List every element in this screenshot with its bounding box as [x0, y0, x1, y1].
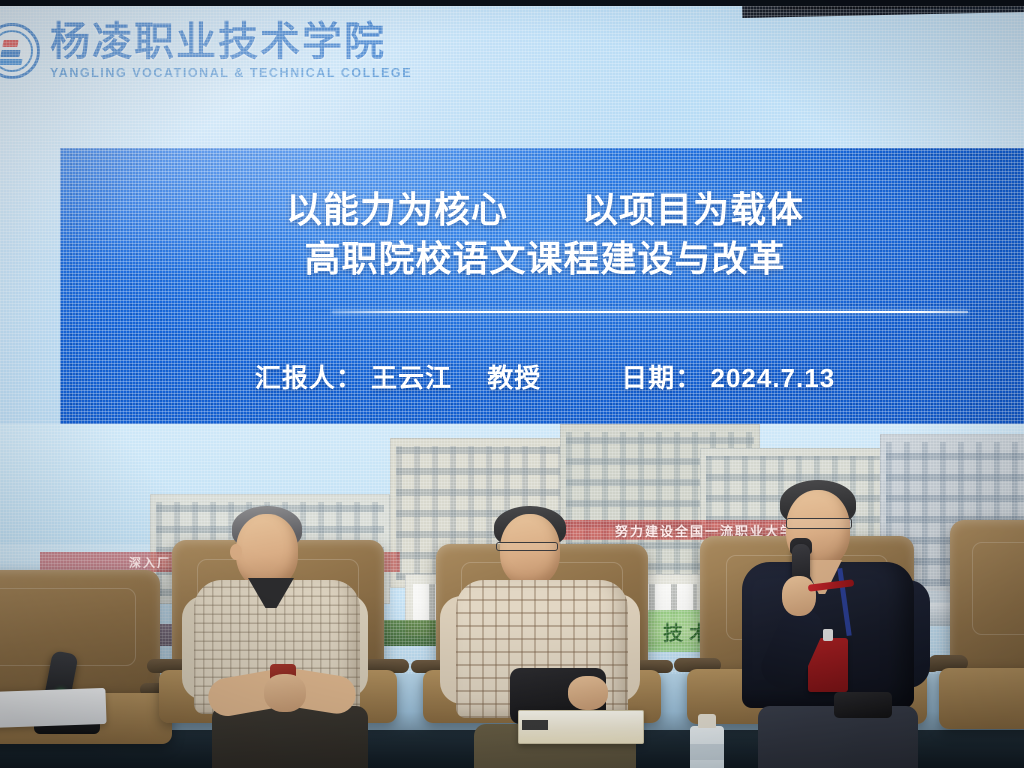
person-left-hands — [264, 674, 306, 712]
slide-title-panel: 以能力为核心 以项目为载体 高职院校语文课程建设与改革 汇报人： 王云江 教授 … — [60, 148, 1024, 430]
slide-meta-row: 汇报人： 王云江 教授 日期： 2024.7.13 — [60, 358, 1024, 395]
person-left-head — [236, 514, 298, 588]
person-right-glasses-icon — [786, 518, 852, 529]
person-left-legs — [212, 706, 368, 768]
slide-title-line-1: 以能力为核心 以项目为载体 — [286, 184, 804, 235]
person-middle-hand — [568, 676, 608, 710]
title-divider — [332, 311, 968, 313]
water-bottle — [690, 726, 724, 768]
stage-seating-area: 努力建设全国一流职业大学 深入厂 大力推进集团化办学 技术学院 — [0, 424, 1024, 768]
college-name-cn: 杨凌职业技术学院 — [50, 22, 412, 62]
date-text: 日期： 2024.7.13 — [621, 358, 835, 395]
college-logo: 杨凌职业技术学院 YANGLING VOCATIONAL & TECHNICAL… — [0, 22, 412, 80]
person-right-hand — [782, 576, 816, 616]
person-middle — [452, 472, 652, 768]
person-left — [186, 468, 386, 768]
person-middle-glasses-icon — [496, 542, 558, 551]
led-screen-slide: 杨凌职业技术学院 YANGLING VOCATIONAL & TECHNICAL… — [0, 6, 1024, 430]
foreground-paper — [0, 688, 107, 728]
photo-stage: 杨凌职业技术学院 YANGLING VOCATIONAL & TECHNICAL… — [0, 0, 1024, 768]
person-right — [730, 456, 940, 768]
presenter-text: 汇报人： 王云江 教授 — [255, 358, 541, 395]
college-crest-icon — [0, 23, 40, 79]
college-name-en: YANGLING VOCATIONAL & TECHNICAL COLLEGE — [50, 67, 412, 80]
person-right-phone — [834, 692, 892, 718]
chair-far-right-empty — [950, 520, 1024, 700]
slide-title-line-2: 高职院校语文课程建设与改革 — [304, 233, 785, 284]
